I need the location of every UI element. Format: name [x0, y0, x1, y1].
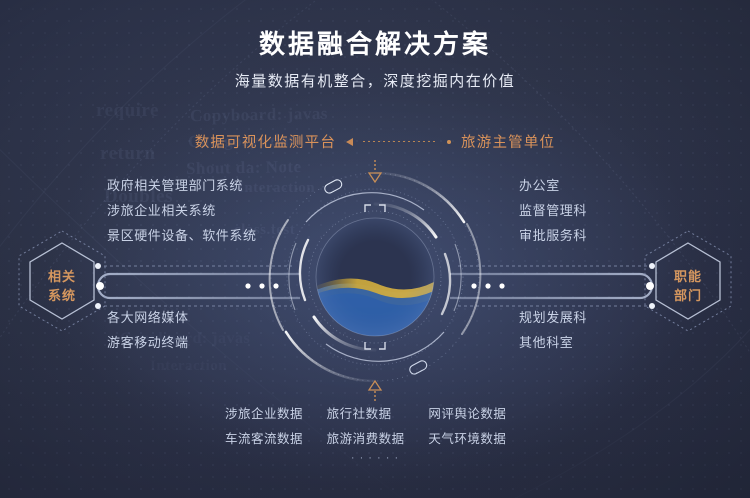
list-item: 监督管理科 [519, 198, 587, 223]
left-source-list-bottom: 各大网络媒体 游客移动终端 [107, 305, 189, 355]
left-hexagon-label-line1: 相关 [48, 269, 76, 284]
list-item: 车流客流数据 [225, 428, 327, 447]
right-data-pipe [450, 274, 652, 298]
infographic-canvas: Copyboard: javas Category: data Shout da… [0, 0, 750, 498]
list-item: 涉旅企业相关系统 [107, 198, 257, 223]
right-pipe-flow-dots [471, 283, 504, 288]
right-department-list-bottom: 规划发展科 其他科室 [519, 305, 587, 355]
left-hexagon-node[interactable]: 相关 系统 [12, 231, 112, 341]
list-item: 办公室 [519, 173, 587, 198]
left-connector-lines [95, 263, 292, 309]
list-item: 各大网络媒体 [107, 305, 189, 330]
page-subtitle: 海量数据有机整合，深度挖掘内在价值 [0, 70, 750, 91]
bottom-more-indicator: · · · · · · [0, 452, 750, 464]
right-hexagon-label-line1: 职能 [674, 269, 702, 284]
tourism-authority-label: 旅游主管单位 [461, 131, 555, 152]
core-label-line1: 数据融合 [331, 249, 419, 270]
list-item: 涉旅企业数据 [225, 403, 327, 422]
background-watermark-text: Copyboard: javas [190, 104, 328, 126]
left-source-list-top: 政府相关管理部门系统 涉旅企业相关系统 景区硬件设备、软件系统 [107, 173, 257, 248]
list-item: 游客移动终端 [107, 330, 189, 355]
left-pipe-flow-dots [245, 283, 278, 288]
top-inflow-arrow-icon [369, 160, 381, 182]
bottom-data-category-grid: 涉旅企业数据 旅行社数据 网评舆论数据 车流客流数据 旅游消费数据 天气环境数据 [225, 403, 530, 447]
list-item: 审批服务科 [519, 223, 587, 248]
background-watermark-text: require [96, 100, 159, 122]
left-hexagon-label: 相关 系统 [12, 267, 112, 305]
right-hexagon-label: 职能 部门 [638, 267, 738, 305]
right-connector-lines [458, 263, 655, 309]
list-item: 政府相关管理部门系统 [107, 173, 257, 198]
background-watermark-text: Interaction [150, 358, 227, 375]
endpoint-dot-icon [447, 140, 451, 144]
top-flow-row: 数据可视化监测平台 旅游主管单位 [0, 131, 750, 152]
list-item: 景区硬件设备、软件系统 [107, 223, 257, 248]
visualization-platform-label: 数据可视化监测平台 [195, 131, 336, 152]
right-hexagon-label-line2: 部门 [674, 288, 702, 303]
left-data-pipe [98, 274, 300, 298]
bottom-outflow-arrow-icon [369, 381, 381, 401]
right-hexagon-node[interactable]: 职能 部门 [638, 231, 738, 341]
left-hexagon-label-line2: 系统 [48, 288, 76, 303]
list-item: 旅行社数据 [327, 403, 429, 422]
list-item: 旅游消费数据 [327, 428, 429, 447]
list-item: 网评舆论数据 [428, 403, 530, 422]
list-item: 其他科室 [519, 330, 587, 355]
right-department-list-top: 办公室 监督管理科 审批服务科 [519, 173, 587, 248]
arrow-left-icon [346, 138, 353, 146]
list-item: 天气环境数据 [428, 428, 530, 447]
dotted-line-icon [363, 141, 437, 142]
page-title: 数据融合解决方案 [0, 24, 750, 61]
list-item: 规划发展科 [519, 305, 587, 330]
core-label-line2: 共享中心 [331, 276, 419, 297]
core-center-label: 数据融合 共享中心 [275, 246, 475, 300]
